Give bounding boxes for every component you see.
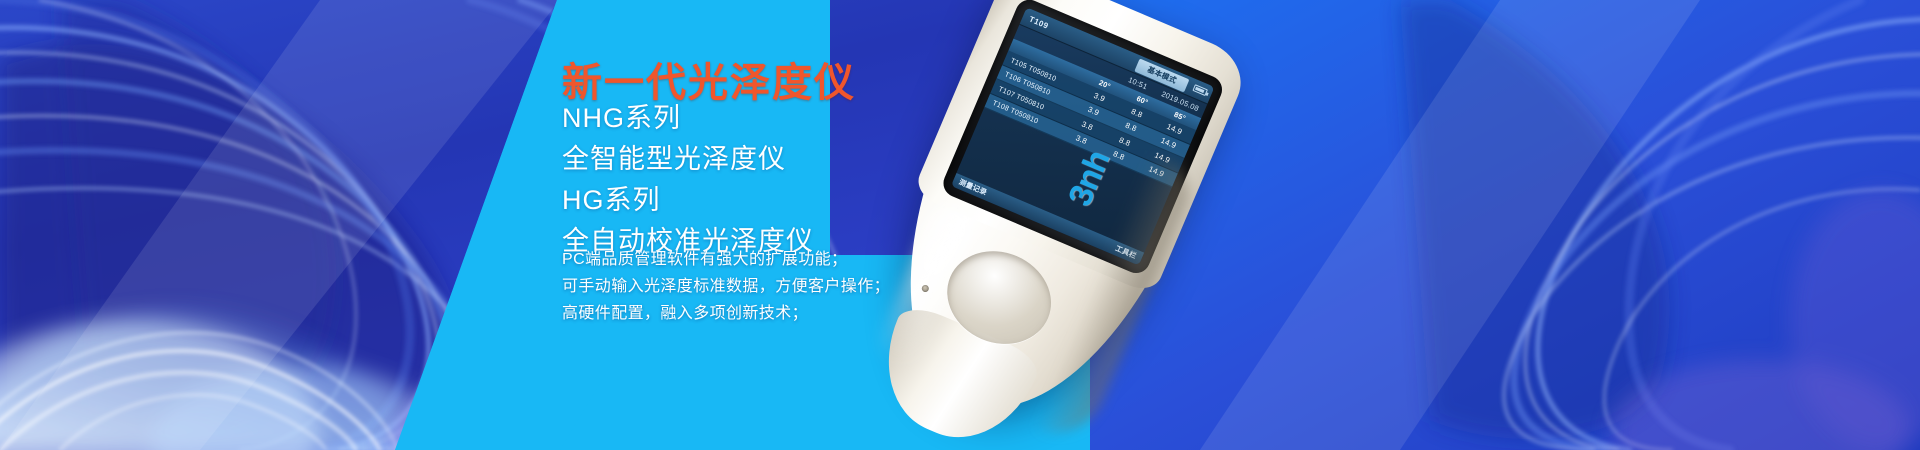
subline-nhg-description: 全智能型光泽度仪 [562,137,786,176]
battery-icon [1192,84,1208,96]
feature-line-hardware: 高硬件配置，融入多项创新技术； [562,299,808,323]
device-rotated-group: T109 基本模式 10:51 2019.05.08 20° 60° 85° [851,0,1245,449]
subline-nhg-series: NHG系列 [562,96,681,135]
product-banner: 新一代光泽度仪 NHG系列 全智能型光泽度仪 HG系列 全自动校准光泽度仪 PC… [0,0,1920,450]
subline-hg-series: HG系列 [562,178,661,217]
gloss-meter-device: T109 基本模式 10:51 2019.05.08 20° 60° 85° [820,0,1520,450]
feature-line-software: PC端品质管理软件有强大的扩展功能； [562,245,847,269]
lcd-sample-title: T109 [1021,11,1050,30]
